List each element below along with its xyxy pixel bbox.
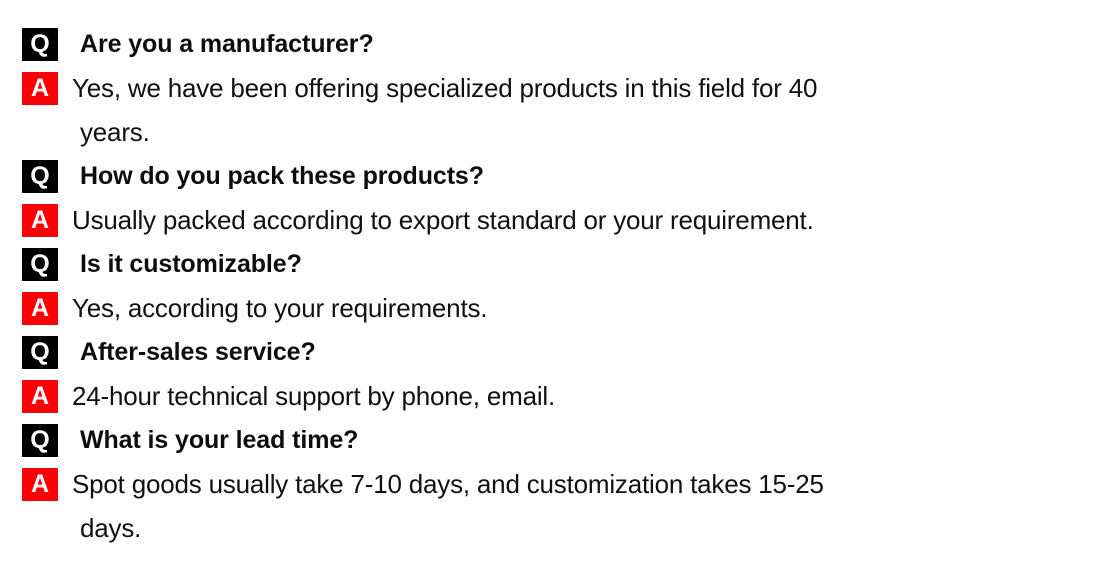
- question-badge-icon: Q: [22, 424, 58, 457]
- faq-answer-text: Spot goods usually take 7-10 days, and c…: [72, 462, 1108, 506]
- faq-question-row: Q What is your lead time?: [0, 418, 1108, 462]
- faq-item: Q What is your lead time? A Spot goods u…: [0, 418, 1108, 550]
- faq-question-text: What is your lead time?: [80, 418, 1108, 462]
- faq-item: Q Is it customizable? A Yes, according t…: [0, 242, 1108, 330]
- faq-answer-row: A 24-hour technical support by phone, em…: [0, 374, 1108, 418]
- faq-answer-text-continued: days.: [80, 506, 1108, 550]
- faq-answer-text: Yes, according to your requirements.: [72, 286, 1108, 330]
- question-badge-icon: Q: [22, 28, 58, 61]
- faq-question-row: Q Is it customizable?: [0, 242, 1108, 286]
- answer-badge-icon: A: [22, 380, 58, 413]
- faq-question-row: Q After-sales service?: [0, 330, 1108, 374]
- question-badge-icon: Q: [22, 248, 58, 281]
- answer-badge-icon: A: [22, 468, 58, 501]
- faq-question-text: How do you pack these products?: [80, 154, 1108, 198]
- faq-question-text: After-sales service?: [80, 330, 1108, 374]
- faq-item: Q How do you pack these products? A Usua…: [0, 154, 1108, 242]
- question-badge-icon: Q: [22, 336, 58, 369]
- faq-answer-row: A Usually packed according to export sta…: [0, 198, 1108, 242]
- faq-question-text: Are you a manufacturer?: [80, 22, 1108, 66]
- faq-question-text: Is it customizable?: [80, 242, 1108, 286]
- answer-badge-icon: A: [22, 292, 58, 325]
- faq-answer-text-continued: years.: [80, 110, 1108, 154]
- faq-item: Q Are you a manufacturer? A Yes, we have…: [0, 22, 1108, 154]
- answer-badge-icon: A: [22, 72, 58, 105]
- faq-answer-row: A Yes, according to your requirements.: [0, 286, 1108, 330]
- faq-question-row: Q Are you a manufacturer?: [0, 22, 1108, 66]
- answer-badge-icon: A: [22, 204, 58, 237]
- question-badge-icon: Q: [22, 160, 58, 193]
- faq-answer-row: A Yes, we have been offering specialized…: [0, 66, 1108, 110]
- faq-answer-text: Yes, we have been offering specialized p…: [72, 66, 1108, 110]
- faq-question-row: Q How do you pack these products?: [0, 154, 1108, 198]
- faq-answer-row: A Spot goods usually take 7-10 days, and…: [0, 462, 1108, 506]
- faq-answer-text: 24-hour technical support by phone, emai…: [72, 374, 1108, 418]
- faq-list: Q Are you a manufacturer? A Yes, we have…: [0, 0, 1108, 573]
- faq-item: Q After-sales service? A 24-hour technic…: [0, 330, 1108, 418]
- faq-answer-text: Usually packed according to export stand…: [72, 198, 1108, 242]
